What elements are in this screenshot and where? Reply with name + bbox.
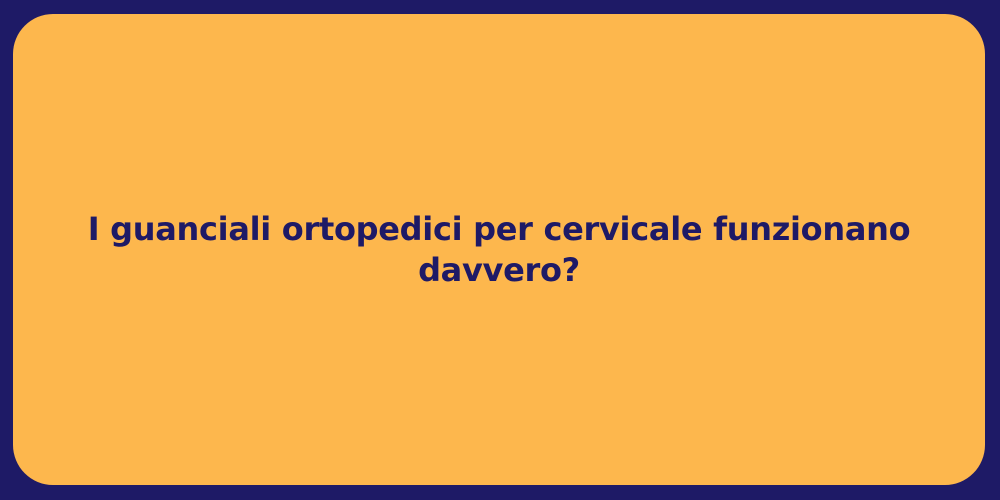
card-frame: I guanciali ortopedici per cervicale fun… xyxy=(0,0,1000,500)
headline-text: I guanciali ortopedici per cervicale fun… xyxy=(59,209,939,291)
card-panel: I guanciali ortopedici per cervicale fun… xyxy=(13,14,985,485)
